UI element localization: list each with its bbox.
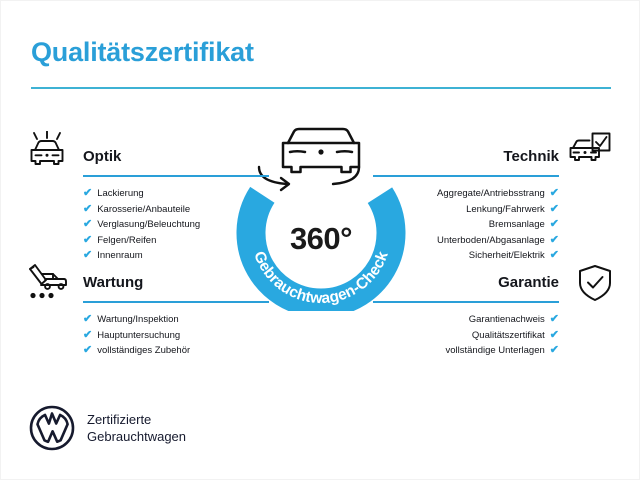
section-optik: Optik ✔ Lackierung ✔ Karosserie/Anbautei… [83, 147, 269, 264]
list-item-label: Felgen/Reifen [97, 233, 156, 249]
check-icon: ✔ [83, 343, 92, 359]
wrench-car-icon [25, 263, 69, 303]
check-icon: ✔ [550, 202, 559, 218]
list-item: Lenkung/Fahrwerk ✔ [373, 202, 559, 218]
list-item-label: Lenkung/Fahrwerk [466, 202, 545, 218]
list-item: Unterboden/Abgasanlage ✔ [373, 233, 559, 249]
section-technik-divider [373, 175, 559, 177]
list-item: ✔ Hauptuntersuchung [83, 328, 269, 344]
section-optik-items: ✔ Lackierung ✔ Karosserie/Anbauteile ✔ V… [83, 186, 269, 264]
section-garantie-items: Garantienachweis ✔ Qualitätszertifikat ✔… [373, 312, 559, 359]
section-garantie-title: Garantie [373, 273, 559, 293]
section-wartung-title: Wartung [83, 273, 269, 293]
check-icon: ✔ [550, 217, 559, 233]
section-wartung-divider [83, 301, 269, 303]
check-icon: ✔ [83, 202, 92, 218]
section-garantie-divider [373, 301, 559, 303]
list-item: ✔ Lackierung [83, 186, 269, 202]
car-shine-icon [25, 131, 69, 171]
list-item-label: vollständige Unterlagen [445, 343, 544, 359]
list-item-label: vollständiges Zubehör [97, 343, 190, 359]
list-item: ✔ Innenraum [83, 248, 269, 264]
list-item: Bremsanlage ✔ [373, 217, 559, 233]
section-technik-title: Technik [373, 147, 559, 167]
qualitaetszertifikat-page: Qualitätszertifikat [0, 0, 640, 480]
section-garantie: Garantie Garantienachweis ✔ Qualitätszer… [373, 273, 559, 359]
check-icon: ✔ [550, 343, 559, 359]
list-item-label: Aggregate/Antriebsstrang [437, 186, 545, 202]
list-item-label: Sicherheit/Elektrik [469, 248, 545, 264]
check-icon: ✔ [83, 233, 92, 249]
list-item-label: Bremsanlage [489, 217, 545, 233]
list-item: ✔ Verglasung/Beleuchtung [83, 217, 269, 233]
list-item: ✔ Wartung/Inspektion [83, 312, 269, 328]
list-item: ✔ vollständiges Zubehör [83, 343, 269, 359]
list-item-label: Unterboden/Abgasanlage [437, 233, 545, 249]
section-technik-head: Technik [373, 147, 559, 171]
check-icon: ✔ [83, 248, 92, 264]
list-item-label: Verglasung/Beleuchtung [97, 217, 200, 233]
list-item: Garantienachweis ✔ [373, 312, 559, 328]
list-item: Aggregate/Antriebsstrang ✔ [373, 186, 559, 202]
title-divider [31, 87, 611, 89]
check-icon: ✔ [550, 248, 559, 264]
section-garantie-head: Garantie [373, 273, 559, 297]
section-optik-title: Optik [83, 147, 269, 167]
check-icon: ✔ [550, 312, 559, 328]
section-wartung-items: ✔ Wartung/Inspektion ✔ Hauptuntersuchung… [83, 312, 269, 359]
list-item: ✔ Felgen/Reifen [83, 233, 269, 249]
car-checkbox-icon [569, 131, 613, 171]
footer-text: Zertifizierte Gebrauchtwagen [87, 411, 186, 445]
check-icon: ✔ [83, 312, 92, 328]
list-item-label: Hauptuntersuchung [97, 328, 180, 344]
section-optik-divider [83, 175, 269, 177]
list-item-label: Garantienachweis [469, 312, 545, 328]
footer-line-1: Zertifizierte [87, 411, 186, 428]
shield-check-icon [573, 263, 617, 303]
vw-logo [29, 405, 75, 451]
list-item-label: Lackierung [97, 186, 143, 202]
check-icon: ✔ [550, 233, 559, 249]
section-wartung: Wartung ✔ Wartung/Inspektion ✔ Hauptunte… [83, 273, 269, 359]
check-icon: ✔ [83, 328, 92, 344]
list-item-label: Innenraum [97, 248, 142, 264]
list-item: vollständige Unterlagen ✔ [373, 343, 559, 359]
check-icon: ✔ [550, 186, 559, 202]
page-title: Qualitätszertifikat [31, 37, 254, 68]
check-icon: ✔ [83, 217, 92, 233]
list-item-label: Wartung/Inspektion [97, 312, 179, 328]
section-technik: Technik Aggregate/Antriebsstrang ✔ Lenku… [373, 147, 559, 264]
check-icon: ✔ [83, 186, 92, 202]
section-optik-head: Optik [83, 147, 269, 171]
list-item-label: Karosserie/Anbauteile [97, 202, 190, 218]
section-technik-items: Aggregate/Antriebsstrang ✔ Lenkung/Fahrw… [373, 186, 559, 264]
vw-footer-logo: Zertifizierte Gebrauchtwagen [29, 405, 186, 451]
list-item: Qualitätszertifikat ✔ [373, 328, 559, 344]
footer-line-2: Gebrauchtwagen [87, 428, 186, 445]
list-item: ✔ Karosserie/Anbauteile [83, 202, 269, 218]
list-item: Sicherheit/Elektrik ✔ [373, 248, 559, 264]
list-item-label: Qualitätszertifikat [472, 328, 545, 344]
section-wartung-head: Wartung [83, 273, 269, 297]
check-icon: ✔ [550, 328, 559, 344]
